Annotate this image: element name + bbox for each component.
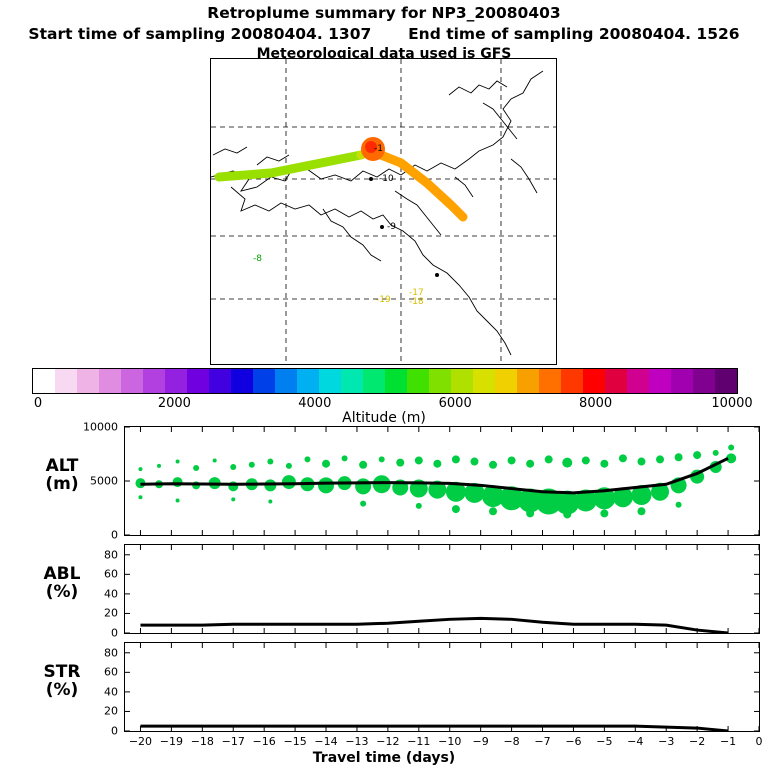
colorbar-swatch: [77, 369, 99, 393]
alt-bubble: [249, 462, 255, 468]
y-tick-label: 20: [72, 705, 118, 718]
alt-bubble: [675, 453, 683, 461]
alt-bubble: [304, 456, 310, 462]
str-plot: [125, 643, 759, 731]
y-tick-label: 20: [72, 607, 118, 620]
start-time-label: Start time of sampling 20080404. 1307: [28, 25, 371, 43]
alt-bubble: [415, 456, 423, 464]
alt-bubble: [342, 455, 348, 461]
colorbar-swatch: [275, 369, 297, 393]
str-axis-label: STR(%): [6, 664, 118, 700]
alt-bubble: [373, 475, 391, 493]
alt-panel: [124, 426, 760, 536]
y-tick-label: 0: [72, 627, 118, 640]
colorbar-swatch: [363, 369, 385, 393]
x-tick-label: −10: [438, 735, 461, 748]
map-coastlines: [211, 71, 543, 355]
alt-bubble: [562, 458, 572, 468]
colorbar-title: Altitude (m): [0, 410, 768, 426]
abl-line: [140, 618, 728, 633]
colorbar-tick: 0: [34, 396, 42, 411]
colorbar-tick: 4000: [298, 396, 331, 411]
alt-bubble: [176, 460, 180, 464]
colorbar-swatch: [143, 369, 165, 393]
colorbar-swatch: [319, 369, 341, 393]
y-tick-label: 80: [72, 548, 118, 561]
map-marker-label: -1: [374, 144, 383, 154]
alt-bubble: [322, 460, 330, 468]
alt-bubble: [267, 459, 273, 465]
colorbar-tick: 8000: [579, 396, 612, 411]
map-graticule: [211, 59, 556, 364]
x-tick-label: −4: [627, 735, 643, 748]
y-tick-label: 0: [72, 529, 118, 542]
x-tick-label: −2: [689, 735, 705, 748]
alt-bubble: [416, 503, 422, 509]
colorbar-swatch: [671, 369, 693, 393]
alt-bubble: [656, 455, 664, 463]
x-tick-layer: −20−19−18−17−16−15−14−13−12−11−10−9−8−7−…: [0, 735, 768, 749]
colorbar-tick: 10000: [711, 396, 752, 411]
alt-bubble: [693, 451, 701, 459]
x-tick-label: −14: [314, 735, 337, 748]
colorbar-swatch: [473, 369, 495, 393]
map-marker-label: -10: [379, 174, 394, 184]
str-line: [140, 726, 728, 731]
x-tick-label: 0: [756, 735, 763, 748]
alt-bubble: [193, 465, 199, 471]
colorbar-swatch: [583, 369, 605, 393]
alt-bubble: [713, 450, 719, 456]
y-tick-label: 80: [72, 646, 118, 659]
colorbar-swatch: [407, 369, 429, 393]
colorbar-swatch: [539, 369, 561, 393]
colorbar-swatch: [561, 369, 583, 393]
x-tick-label: −12: [376, 735, 399, 748]
colorbar-swatch: [627, 369, 649, 393]
colorbar-swatch: [341, 369, 363, 393]
colorbar: [32, 368, 738, 394]
alt-bubble: [379, 456, 385, 462]
alt-bubble: [355, 478, 371, 494]
x-tick-label: −15: [283, 735, 306, 748]
map-svg: -1 -10 -9 -8 -19 -17 -18: [211, 59, 556, 364]
alt-bubble: [138, 467, 142, 471]
colorbar-swatch: [715, 369, 737, 393]
alt-bubble: [728, 445, 734, 451]
colorbar-swatch: [33, 369, 55, 393]
abl-plot: [125, 545, 759, 633]
map-panel[interactable]: -1 -10 -9 -8 -19 -17 -18: [210, 58, 557, 365]
alt-bubble: [676, 502, 682, 508]
alt-bubble: [637, 458, 645, 466]
alt-bubble: [213, 458, 217, 462]
sampling-times: Start time of sampling 20080404. 1307 En…: [0, 25, 768, 43]
alt-bubble: [138, 495, 142, 499]
alt-bubble: [452, 505, 460, 513]
alt-bubble: [526, 509, 534, 517]
str-panel: [124, 642, 760, 732]
x-tick-label: −7: [534, 735, 550, 748]
x-tick-label: −6: [565, 735, 581, 748]
colorbar-swatch: [385, 369, 407, 393]
x-tick-label: −5: [596, 735, 612, 748]
x-tick-label: −9: [473, 735, 489, 748]
page-title: Retroplume summary for NP3_20080403: [0, 4, 768, 22]
abl-panel: [124, 544, 760, 634]
x-axis-title: Travel time (days): [0, 750, 768, 766]
alt-bubble: [360, 501, 366, 507]
colorbar-swatch: [649, 369, 671, 393]
colorbar-swatch: [429, 369, 451, 393]
colorbar-swatch: [165, 369, 187, 393]
colorbar-swatch: [187, 369, 209, 393]
map-marker-label: -18: [409, 297, 424, 307]
colorbar-swatch: [693, 369, 715, 393]
colorbar-tick: 2000: [158, 396, 191, 411]
alt-bubble: [318, 477, 334, 493]
alt-bubble: [359, 461, 367, 469]
colorbar-swatch: [55, 369, 77, 393]
x-tick-label: −20: [129, 735, 152, 748]
map-marker-label: -19: [376, 295, 391, 305]
colorbar-swatch: [121, 369, 143, 393]
colorbar-swatch: [231, 369, 253, 393]
alt-bubble: [282, 475, 296, 489]
colorbar-tick: 6000: [439, 396, 472, 411]
retroplume-track: [219, 151, 463, 217]
alt-bubble: [176, 498, 180, 502]
alt-bubble: [452, 455, 460, 463]
x-tick-label: −11: [407, 735, 430, 748]
alt-plot: [125, 427, 759, 535]
alt-bubble: [230, 464, 236, 470]
x-tick-label: −17: [222, 735, 245, 748]
alt-bubble: [508, 456, 516, 464]
x-tick-label: −13: [345, 735, 368, 748]
alt-bubble: [433, 460, 441, 468]
colorbar-swatch: [605, 369, 627, 393]
alt-bubble: [489, 507, 497, 515]
x-tick-label: −3: [658, 735, 674, 748]
alt-bubble: [396, 459, 404, 467]
map-marker-label: -9: [387, 222, 396, 232]
alt-bubble: [600, 460, 608, 468]
x-tick-label: −1: [720, 735, 736, 748]
colorbar-swatch: [253, 369, 275, 393]
alt-bubble: [489, 461, 497, 469]
map-marker-label: -8: [253, 254, 262, 264]
alt-bubble: [637, 507, 645, 515]
alt-bubble: [600, 509, 608, 517]
alt-bubble: [545, 455, 553, 463]
colorbar-swatch: [209, 369, 231, 393]
colorbar-strip: [32, 368, 738, 394]
end-time-label: End time of sampling 20080404. 1526: [408, 25, 739, 43]
alt-bubble: [563, 510, 571, 518]
colorbar-swatch: [517, 369, 539, 393]
alt-bubble: [619, 454, 627, 462]
alt-bubble: [157, 464, 161, 468]
colorbar-swatch: [451, 369, 473, 393]
alt-bubble: [526, 460, 534, 468]
alt-bubble: [470, 458, 478, 466]
alt-bubble: [582, 456, 590, 464]
x-tick-label: −8: [503, 735, 519, 748]
x-tick-label: −16: [253, 735, 276, 748]
colorbar-swatch: [495, 369, 517, 393]
abl-axis-label: ABL(%): [6, 566, 118, 602]
alt-axis-label: ALT(m): [6, 458, 118, 494]
colorbar-swatch: [99, 369, 121, 393]
x-tick-label: −19: [160, 735, 183, 748]
alt-bubble: [268, 500, 272, 504]
alt-bubble: [173, 477, 183, 487]
x-tick-label: −18: [191, 735, 214, 748]
alt-bubble: [286, 463, 292, 469]
colorbar-swatch: [297, 369, 319, 393]
alt-bubble: [231, 497, 235, 501]
